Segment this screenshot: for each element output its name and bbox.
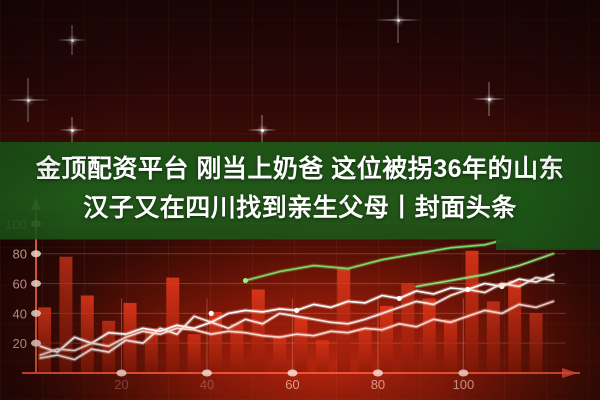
headline-text: 金顶配资平台 刚当上奶爸 这位被拐36年的山东 汉子又在四川找到亲生父母丨封面头… bbox=[0, 150, 600, 228]
svg-text:80: 80 bbox=[371, 377, 385, 392]
svg-text:60: 60 bbox=[13, 277, 27, 292]
svg-text:80: 80 bbox=[13, 247, 27, 262]
svg-text:20: 20 bbox=[114, 377, 128, 392]
svg-text:60: 60 bbox=[285, 377, 299, 392]
svg-text:40: 40 bbox=[13, 306, 27, 321]
headline-line-2: 汉子又在四川找到亲生父母丨封面头条 bbox=[0, 189, 600, 228]
banner-image: 2040608010020406080100 金顶配资平台 刚当上奶爸 这位被拐… bbox=[0, 0, 600, 400]
svg-text:100: 100 bbox=[453, 377, 475, 392]
headline-line-1: 金顶配资平台 刚当上奶爸 这位被拐36年的山东 bbox=[36, 155, 564, 183]
svg-text:40: 40 bbox=[200, 377, 214, 392]
svg-text:20: 20 bbox=[13, 336, 27, 351]
